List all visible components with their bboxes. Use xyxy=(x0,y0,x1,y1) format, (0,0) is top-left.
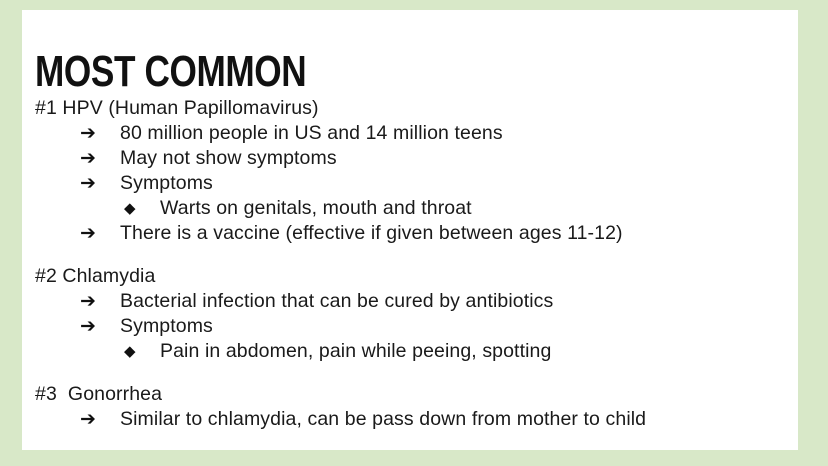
section-heading: #1 HPV (Human Papillomavirus) xyxy=(35,96,792,121)
presentation-slide: MOST COMMON #1 HPV (Human Papillomavirus… xyxy=(0,0,828,466)
list-item: ➔Symptoms xyxy=(35,314,792,339)
list-item-label: Symptoms xyxy=(120,314,792,339)
list-item: ➔Similar to chlamydia, can be pass down … xyxy=(35,407,792,432)
list-item: ◆Warts on genitals, mouth and throat xyxy=(35,196,792,221)
diamond-bullet-icon: ◆ xyxy=(124,196,160,221)
outline-section: #1 HPV (Human Papillomavirus)➔80 million… xyxy=(35,96,792,246)
page-title: MOST COMMON xyxy=(35,47,306,97)
list-item: ➔Symptoms xyxy=(35,171,792,196)
outline-section: #2 Chlamydia➔Bacterial infection that ca… xyxy=(35,264,792,364)
list-item-label: Warts on genitals, mouth and throat xyxy=(160,196,792,221)
list-item-label: Symptoms xyxy=(120,171,792,196)
list-item: ➔Bacterial infection that can be cured b… xyxy=(35,289,792,314)
list-item: ➔80 million people in US and 14 million … xyxy=(35,121,792,146)
section-heading: #2 Chlamydia xyxy=(35,264,792,289)
slide-body: #1 HPV (Human Papillomavirus)➔80 million… xyxy=(35,96,792,432)
list-item-label: There is a vaccine (effective if given b… xyxy=(120,221,792,246)
bullet-list: ➔Bacterial infection that can be cured b… xyxy=(35,289,792,364)
outline-section: #3 Gonorrhea➔Similar to chlamydia, can b… xyxy=(35,382,792,432)
bullet-list: ➔80 million people in US and 14 million … xyxy=(35,121,792,246)
arrow-bullet-icon: ➔ xyxy=(80,171,120,196)
diamond-bullet-icon: ◆ xyxy=(124,339,160,364)
bullet-list: ➔Similar to chlamydia, can be pass down … xyxy=(35,407,792,432)
arrow-bullet-icon: ➔ xyxy=(80,146,120,171)
list-item-label: Pain in abdomen, pain while peeing, spot… xyxy=(160,339,792,364)
arrow-bullet-icon: ➔ xyxy=(80,221,120,246)
arrow-bullet-icon: ➔ xyxy=(80,314,120,339)
list-item-label: Similar to chlamydia, can be pass down f… xyxy=(120,407,792,432)
section-heading: #3 Gonorrhea xyxy=(35,382,792,407)
arrow-bullet-icon: ➔ xyxy=(80,407,120,432)
arrow-bullet-icon: ➔ xyxy=(80,289,120,314)
list-item-label: Bacterial infection that can be cured by… xyxy=(120,289,792,314)
list-item: ➔There is a vaccine (effective if given … xyxy=(35,221,792,246)
arrow-bullet-icon: ➔ xyxy=(80,121,120,146)
list-item-label: May not show symptoms xyxy=(120,146,792,171)
list-item: ➔May not show symptoms xyxy=(35,146,792,171)
list-item-label: 80 million people in US and 14 million t… xyxy=(120,121,792,146)
list-item: ◆Pain in abdomen, pain while peeing, spo… xyxy=(35,339,792,364)
slide-content-area: MOST COMMON #1 HPV (Human Papillomavirus… xyxy=(22,10,798,450)
